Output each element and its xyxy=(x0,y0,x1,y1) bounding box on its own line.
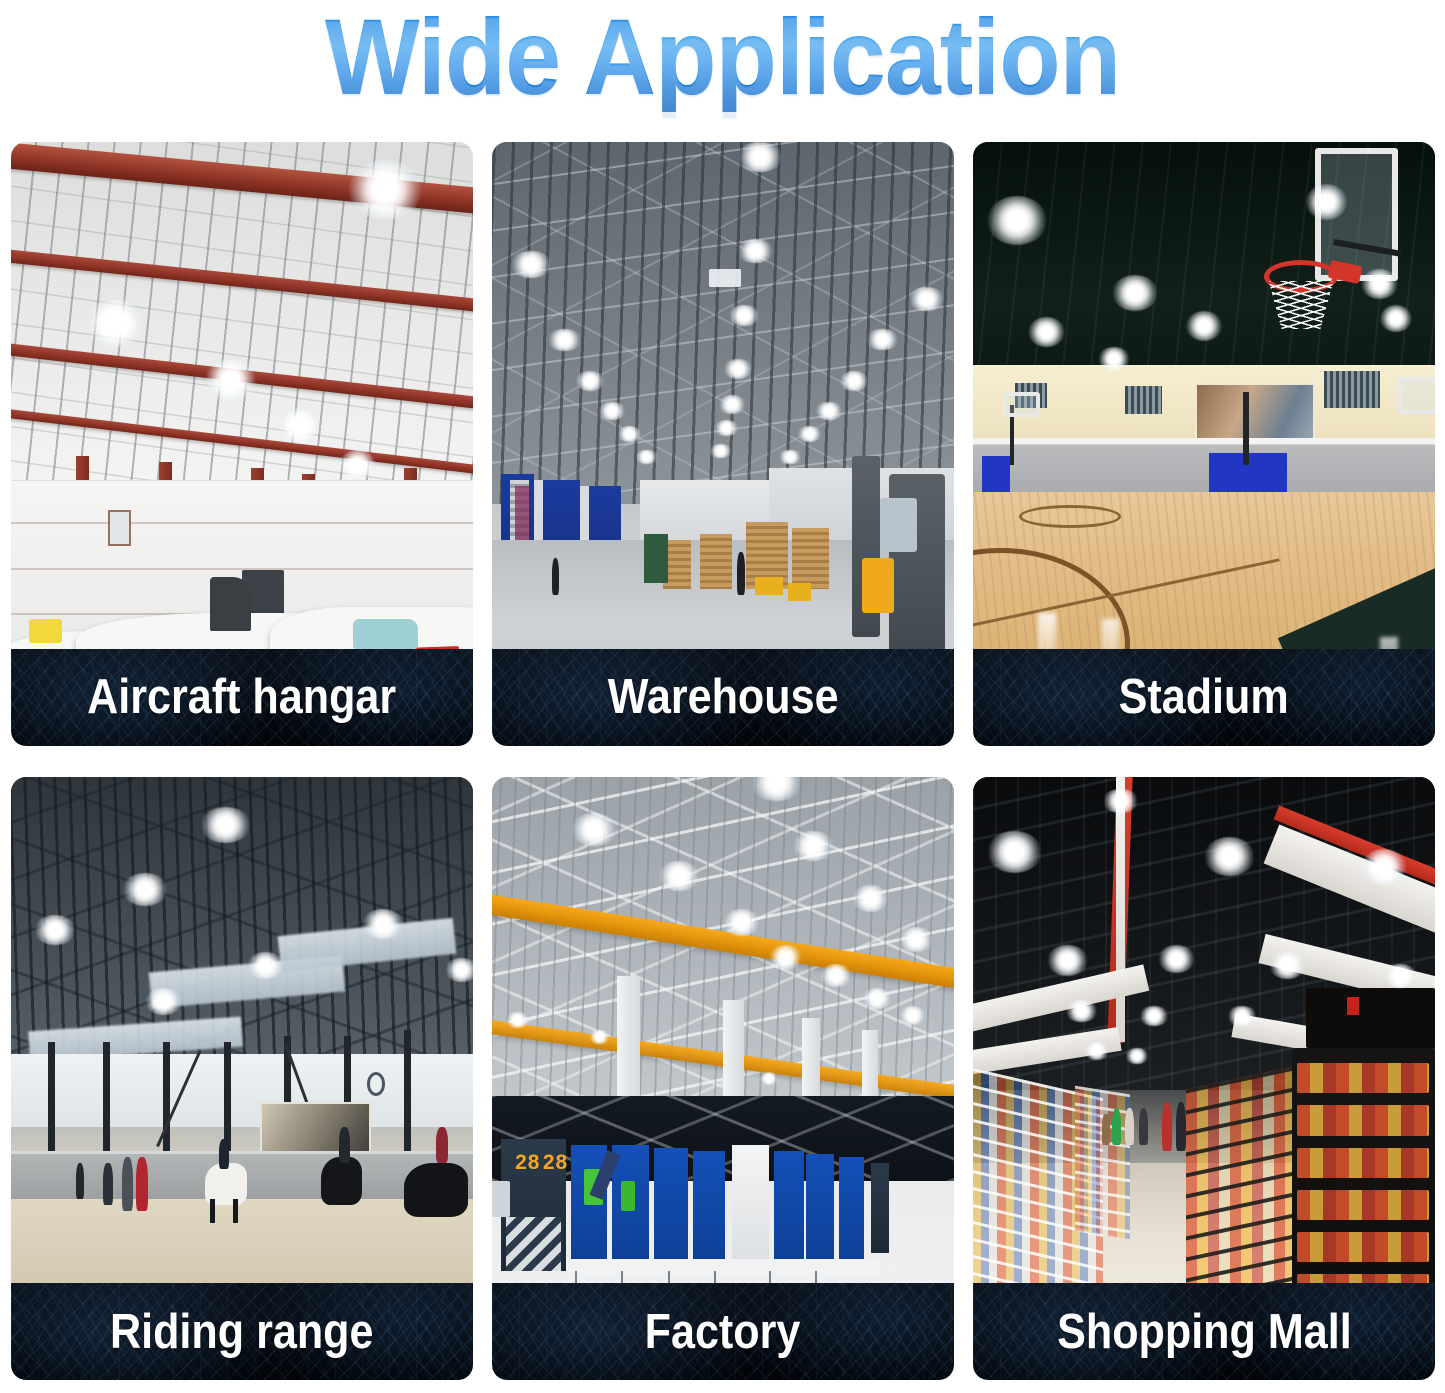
caption-label: Stadium xyxy=(1119,669,1289,725)
application-card-shopping-mall[interactable]: Shopping Mall xyxy=(973,777,1435,1381)
caption-bar-riding-range: Riding range xyxy=(11,1283,473,1380)
application-card-riding-range[interactable]: Riding range xyxy=(11,777,473,1381)
application-card-stadium[interactable]: Stadium xyxy=(973,142,1435,746)
caption-bar-warehouse: Warehouse xyxy=(492,649,954,746)
application-card-aircraft-hangar[interactable]: N473CS N6973G Aircraft hangar xyxy=(11,142,473,746)
caption-bar-stadium: Stadium xyxy=(973,649,1435,746)
caption-bar-shopping-mall: Shopping Mall xyxy=(973,1283,1435,1380)
caption-bar-factory: Factory xyxy=(492,1283,954,1380)
application-card-factory[interactable]: 28 28 xyxy=(492,777,954,1381)
application-gallery: N473CS N6973G Aircraft hangar xyxy=(11,142,1435,1380)
application-card-warehouse[interactable]: Warehouse xyxy=(492,142,954,746)
caption-label: Riding range xyxy=(110,1304,374,1360)
caption-label: Shopping Mall xyxy=(1057,1304,1352,1360)
page-title: Wide Application xyxy=(325,2,1120,112)
caption-label: Aircraft hangar xyxy=(87,669,396,725)
caption-label: Warehouse xyxy=(608,669,839,725)
caption-bar-aircraft-hangar: Aircraft hangar xyxy=(11,649,473,746)
caption-label: Factory xyxy=(645,1304,801,1360)
page-header: Wide Application xyxy=(0,0,1445,118)
